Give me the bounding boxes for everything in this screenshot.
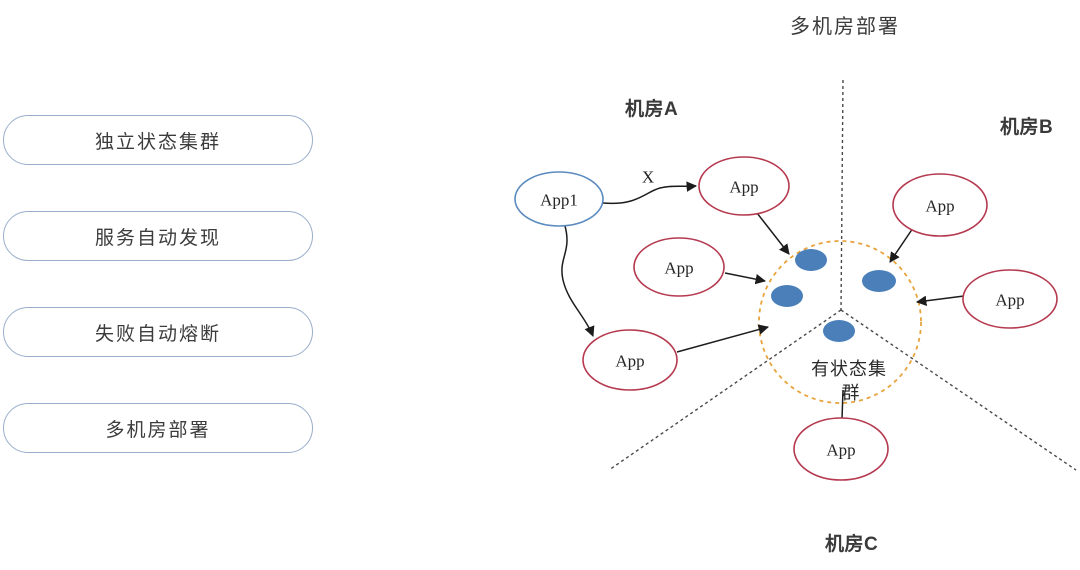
edge-app-b-low-to-cluster <box>917 296 964 302</box>
edge-app-a-bottom-to-cluster <box>677 327 768 352</box>
multi-datacenter-diagram: 有状态集 群 <box>480 0 1080 570</box>
edge-label-x: X <box>642 168 654 187</box>
feature-pill-auto-circuit-break[interactable]: 失败自动熔断 <box>3 307 313 357</box>
node-app-a-mid-label: App <box>664 259 693 278</box>
node-app1-label: App1 <box>540 191 578 210</box>
stateful-cluster-label-line2: 群 <box>842 383 861 403</box>
edge-app1-to-app-a-top <box>603 186 696 203</box>
feature-pill-label: 独立状态集群 <box>95 127 221 154</box>
feature-pill-label: 多机房部署 <box>105 415 210 442</box>
stateful-cluster-nodes <box>771 249 896 342</box>
diagram-nodes: App1 App App App App <box>515 157 1057 480</box>
diagram-title: 多机房部署 <box>790 10 900 39</box>
zone-label-b: 机房B <box>1000 112 1053 139</box>
node-app-c-bottom[interactable]: App <box>794 418 888 480</box>
feature-pill-service-discovery[interactable]: 服务自动发现 <box>3 211 313 261</box>
cluster-node-dot <box>771 285 803 307</box>
zone-label-c: 机房C <box>825 529 878 556</box>
edge-app1-to-app-a-bottom <box>562 226 593 336</box>
node-app1[interactable]: App1 <box>515 172 603 226</box>
zone-divider-vertical <box>841 80 843 310</box>
node-app-a-mid[interactable]: App <box>634 238 724 296</box>
feature-pill-label: 服务自动发现 <box>95 223 221 250</box>
feature-pill-label: 失败自动熔断 <box>95 319 221 346</box>
feature-list: 独立状态集群 服务自动发现 失败自动熔断 多机房部署 <box>0 0 330 570</box>
node-app-a-top-label: App <box>729 178 758 197</box>
node-app-a-bottom[interactable]: App <box>583 330 677 390</box>
edge-cluster-to-app-c-bottom <box>842 390 843 419</box>
node-app-b-top[interactable]: App <box>893 174 987 236</box>
zone-label-a: 机房A <box>625 94 678 121</box>
node-app-b-top-label: App <box>925 197 954 216</box>
node-app-b-low[interactable]: App <box>963 270 1057 328</box>
cluster-node-dot <box>795 249 827 271</box>
node-app-c-bottom-label: App <box>826 441 855 460</box>
stateful-cluster-label-line1: 有状态集 <box>811 359 887 379</box>
cluster-node-dot <box>823 320 855 342</box>
node-app-b-low-label: App <box>995 291 1024 310</box>
node-app-a-top[interactable]: App <box>699 157 789 215</box>
edge-app-a-top-to-cluster <box>757 213 789 254</box>
feature-pill-multi-datacenter[interactable]: 多机房部署 <box>3 403 313 453</box>
feature-pill-independent-state-cluster[interactable]: 独立状态集群 <box>3 115 313 165</box>
edge-app-a-mid-to-cluster <box>725 273 765 281</box>
diagram-canvas: 独立状态集群 服务自动发现 失败自动熔断 多机房部署 <box>0 0 1080 570</box>
diagram-svg: 有状态集 群 <box>480 0 1080 570</box>
node-app-a-bottom-label: App <box>615 352 644 371</box>
cluster-node-dot <box>862 270 896 292</box>
edge-app-b-top-to-cluster <box>890 228 913 262</box>
